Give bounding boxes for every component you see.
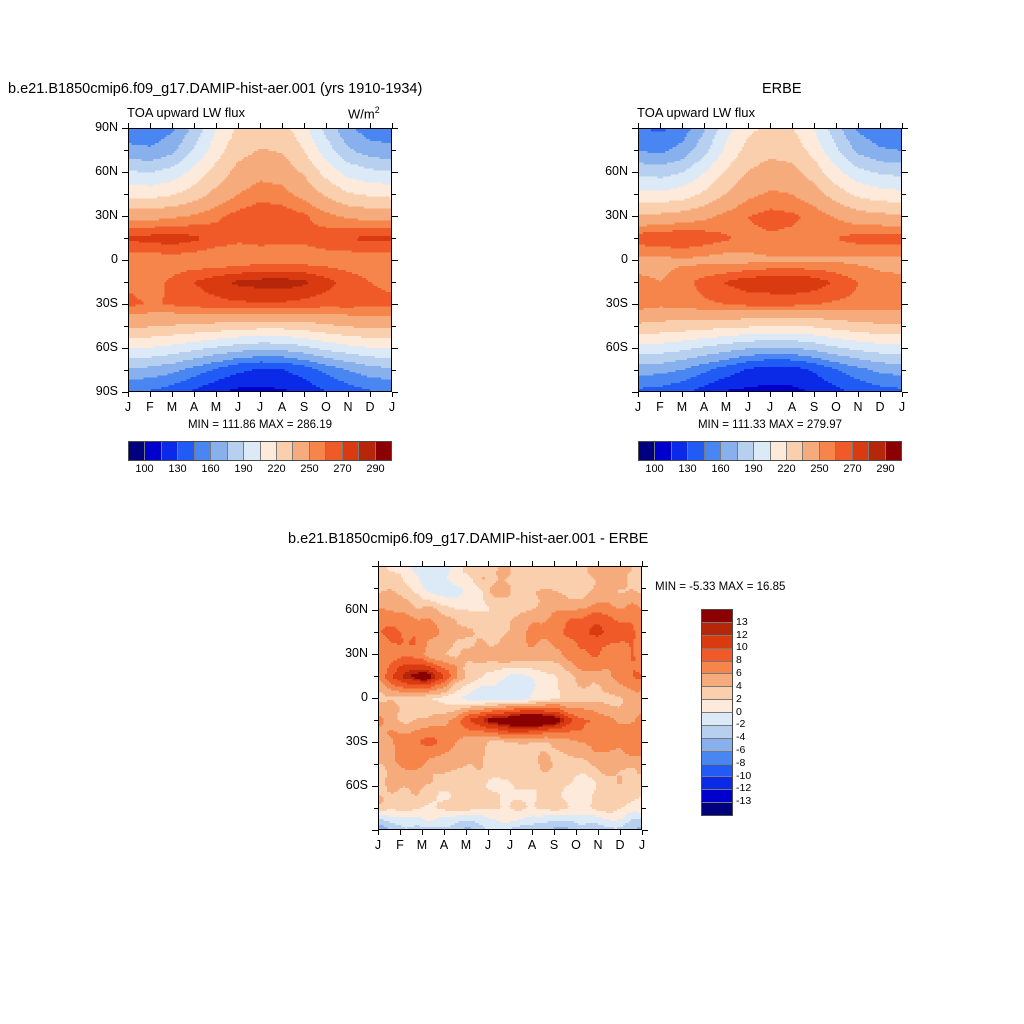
colorbar-tick-label: -4 (736, 731, 745, 743)
colorbar-swatch (702, 662, 732, 675)
colorbar-swatch (702, 765, 732, 778)
x-axis-label-month: J (894, 400, 910, 414)
x-axis-label-month: O (828, 400, 844, 414)
y-tick-major (392, 128, 398, 129)
y-tick-minor (374, 676, 378, 677)
y-tick-major (902, 216, 908, 217)
x-tick (488, 830, 489, 835)
x-axis-label-month: J (480, 838, 496, 852)
x-tick (532, 830, 533, 835)
x-tick (620, 561, 621, 566)
model-minmax-label: MIN = 111.86 MAX = 286.19 (128, 419, 392, 431)
y-tick-minor (392, 194, 396, 195)
y-axis-label-latitude: 90S (72, 384, 118, 398)
y-tick-minor (634, 194, 638, 195)
colorbar-swatch (702, 803, 732, 815)
x-tick (902, 392, 903, 397)
x-tick (238, 392, 239, 397)
x-tick (704, 123, 705, 128)
x-axis-label-month: J (634, 838, 650, 852)
model-colorbar (128, 441, 392, 461)
x-tick (194, 392, 195, 397)
x-axis-label-month: S (546, 838, 562, 852)
colorbar-swatch (886, 442, 901, 460)
y-tick-minor (642, 764, 646, 765)
x-tick (422, 561, 423, 566)
colorbar-tick-label: 12 (736, 629, 748, 641)
colorbar-swatch (129, 442, 145, 460)
colorbar-swatch (228, 442, 244, 460)
colorbar-swatch (145, 442, 161, 460)
y-tick-minor (124, 370, 128, 371)
y-tick-major (632, 304, 638, 305)
y-tick-major (122, 172, 128, 173)
x-axis-label-month: M (458, 838, 474, 852)
y-tick-minor (374, 764, 378, 765)
colorbar-swatch (702, 610, 732, 623)
x-tick (682, 392, 683, 397)
x-tick (792, 123, 793, 128)
x-tick (726, 123, 727, 128)
y-tick-major (372, 654, 378, 655)
x-tick (444, 561, 445, 566)
y-tick-minor (642, 588, 646, 589)
x-tick (554, 830, 555, 835)
x-tick (172, 392, 173, 397)
x-axis-label-month: A (524, 838, 540, 852)
x-axis-label-month: A (274, 400, 290, 414)
colorbar-swatch (705, 442, 721, 460)
y-tick-major (642, 566, 648, 567)
colorbar-swatch (702, 623, 732, 636)
colorbar-swatch (162, 442, 178, 460)
colorbar-swatch (244, 442, 260, 460)
x-axis-label-month: D (362, 400, 378, 414)
colorbar-tick-label: -6 (736, 744, 745, 756)
y-tick-major (392, 216, 398, 217)
diff-panel-title: b.e21.B1850cmip6.f09_g17.DAMIP-hist-aer.… (288, 531, 648, 547)
diff-colorbar-labels: 13121086420-2-4-6-8-10-12-13 (736, 609, 776, 814)
x-tick (814, 123, 815, 128)
y-axis-label-latitude: 30N (322, 646, 368, 660)
y-tick-major (392, 304, 398, 305)
x-tick (792, 392, 793, 397)
colorbar-tick-label: 100 (645, 463, 663, 475)
colorbar-swatch (293, 442, 309, 460)
y-tick-major (632, 392, 638, 393)
y-axis-label-latitude: 30N (72, 208, 118, 222)
y-tick-minor (124, 282, 128, 283)
colorbar-swatch (359, 442, 375, 460)
colorbar-swatch (688, 442, 704, 460)
x-tick (194, 123, 195, 128)
y-tick-major (372, 610, 378, 611)
x-axis-label-month: A (696, 400, 712, 414)
x-axis-label-month: O (568, 838, 584, 852)
x-tick (770, 392, 771, 397)
x-axis-label-month: M (414, 838, 430, 852)
y-tick-minor (124, 150, 128, 151)
colorbar-swatch (702, 687, 732, 700)
x-tick (128, 392, 129, 397)
y-tick-minor (642, 808, 646, 809)
x-tick (422, 830, 423, 835)
y-tick-minor (902, 238, 906, 239)
x-axis-label-month: O (318, 400, 334, 414)
x-tick (216, 123, 217, 128)
y-tick-major (642, 698, 648, 699)
y-tick-major (902, 260, 908, 261)
colorbar-swatch (702, 790, 732, 803)
y-tick-minor (392, 150, 396, 151)
y-tick-major (632, 260, 638, 261)
colorbar-swatch (803, 442, 819, 460)
x-tick (466, 830, 467, 835)
y-tick-minor (642, 676, 646, 677)
x-tick (726, 392, 727, 397)
x-axis-label-month: D (612, 838, 628, 852)
obs-minmax-label: MIN = 111.33 MAX = 279.97 (638, 419, 902, 431)
y-tick-major (122, 392, 128, 393)
x-axis-label-month: N (850, 400, 866, 414)
y-tick-major (632, 172, 638, 173)
colorbar-swatch (702, 752, 732, 765)
y-tick-minor (392, 370, 396, 371)
x-tick (880, 392, 881, 397)
model-colorbar-labels: 100130160190220250270290 (128, 463, 392, 479)
colorbar-tick-label: 6 (736, 667, 742, 679)
colorbar-swatch (655, 442, 671, 460)
colorbar-swatch (702, 700, 732, 713)
y-tick-minor (374, 720, 378, 721)
y-axis-label-latitude: 60S (322, 778, 368, 792)
y-tick-major (122, 260, 128, 261)
colorbar-tick-label: -12 (736, 782, 751, 794)
diff-minmax-label: MIN = -5.33 MAX = 16.85 (655, 581, 785, 593)
y-tick-major (632, 348, 638, 349)
x-tick (660, 123, 661, 128)
x-tick (282, 123, 283, 128)
obs-panel-title: ERBE (762, 81, 802, 97)
y-axis-label-latitude: 60N (72, 164, 118, 178)
y-tick-major (642, 610, 648, 611)
colorbar-swatch (261, 442, 277, 460)
obs-colorbar (638, 441, 902, 461)
y-tick-minor (374, 588, 378, 589)
y-tick-minor (902, 150, 906, 151)
y-tick-major (122, 348, 128, 349)
x-tick (554, 561, 555, 566)
y-tick-minor (902, 370, 906, 371)
y-axis-label-latitude: 30N (582, 208, 628, 222)
x-tick (488, 561, 489, 566)
y-axis-label-latitude: 60S (72, 340, 118, 354)
x-tick (150, 392, 151, 397)
x-tick (326, 123, 327, 128)
y-tick-minor (634, 326, 638, 327)
x-tick (326, 392, 327, 397)
x-tick (260, 123, 261, 128)
x-axis-label-month: A (436, 838, 452, 852)
y-axis-label-latitude: 30S (322, 734, 368, 748)
x-axis-label-month: M (208, 400, 224, 414)
colorbar-tick-label: 270 (333, 463, 351, 475)
x-tick (400, 561, 401, 566)
x-axis-label-month: J (630, 400, 646, 414)
x-tick (392, 392, 393, 397)
x-tick (150, 123, 151, 128)
x-tick (748, 392, 749, 397)
y-tick-major (392, 260, 398, 261)
y-tick-minor (902, 194, 906, 195)
y-axis-label-latitude: 60N (322, 602, 368, 616)
colorbar-swatch (310, 442, 326, 460)
x-axis-label-month: A (186, 400, 202, 414)
x-axis-label-month: J (230, 400, 246, 414)
x-axis-label-month: F (142, 400, 158, 414)
colorbar-swatch (702, 649, 732, 662)
colorbar-swatch (702, 777, 732, 790)
y-tick-major (642, 742, 648, 743)
y-tick-major (372, 566, 378, 567)
y-tick-major (902, 392, 908, 393)
y-tick-minor (392, 238, 396, 239)
x-tick (836, 392, 837, 397)
x-tick (858, 123, 859, 128)
x-axis-label-month: N (340, 400, 356, 414)
x-tick (814, 392, 815, 397)
colorbar-tick-label: 290 (366, 463, 384, 475)
x-tick (642, 830, 643, 835)
y-tick-minor (124, 194, 128, 195)
colorbar-tick-label: 130 (168, 463, 186, 475)
obs-colorbar-labels: 100130160190220250270290 (638, 463, 902, 479)
y-tick-minor (634, 150, 638, 151)
y-tick-major (372, 830, 378, 831)
x-axis-label-month: F (392, 838, 408, 852)
x-tick (770, 123, 771, 128)
colorbar-tick-label: 160 (711, 463, 729, 475)
colorbar-tick-label: 10 (736, 641, 748, 653)
y-axis-label-latitude: 0 (582, 252, 628, 266)
y-tick-major (122, 304, 128, 305)
y-axis-label-latitude: 90N (72, 120, 118, 134)
colorbar-tick-label: -2 (736, 718, 745, 730)
colorbar-swatch (721, 442, 737, 460)
colorbar-swatch (702, 726, 732, 739)
y-tick-major (902, 172, 908, 173)
colorbar-swatch (343, 442, 359, 460)
colorbar-swatch (702, 739, 732, 752)
x-tick (304, 123, 305, 128)
y-tick-minor (634, 282, 638, 283)
colorbar-swatch (853, 442, 869, 460)
y-tick-major (902, 128, 908, 129)
colorbar-tick-label: 130 (678, 463, 696, 475)
y-axis-label-latitude: 60S (582, 340, 628, 354)
y-axis-label-latitude: 60N (582, 164, 628, 178)
x-tick (598, 830, 599, 835)
colorbar-swatch (738, 442, 754, 460)
colorbar-tick-label: 270 (843, 463, 861, 475)
colorbar-tick-label: -13 (736, 795, 751, 807)
x-tick (378, 830, 379, 835)
colorbar-swatch (787, 442, 803, 460)
x-tick (444, 830, 445, 835)
colorbar-tick-label: 100 (135, 463, 153, 475)
colorbar-tick-label: 13 (736, 616, 748, 628)
x-tick (836, 123, 837, 128)
colorbar-swatch (639, 442, 655, 460)
y-tick-major (392, 348, 398, 349)
colorbar-tick-label: 2 (736, 693, 742, 705)
colorbar-swatch (178, 442, 194, 460)
obs-field-label: TOA upward LW flux (637, 105, 755, 120)
x-tick (510, 561, 511, 566)
x-tick (660, 392, 661, 397)
x-tick (532, 561, 533, 566)
colorbar-tick-label: 160 (201, 463, 219, 475)
x-tick (510, 830, 511, 835)
colorbar-tick-label: 190 (234, 463, 252, 475)
colorbar-swatch (277, 442, 293, 460)
colorbar-swatch (869, 442, 885, 460)
x-tick (370, 392, 371, 397)
x-tick (858, 392, 859, 397)
colorbar-tick-label: 290 (876, 463, 894, 475)
x-axis-label-month: J (120, 400, 136, 414)
model-units-label: W/m2 (348, 105, 380, 121)
colorbar-swatch (326, 442, 342, 460)
x-axis-label-month: J (762, 400, 778, 414)
y-tick-minor (124, 238, 128, 239)
y-tick-minor (642, 632, 646, 633)
y-tick-major (122, 128, 128, 129)
x-axis-label-month: N (590, 838, 606, 852)
x-axis-label-month: M (718, 400, 734, 414)
x-tick (172, 123, 173, 128)
x-tick (704, 392, 705, 397)
y-tick-major (632, 128, 638, 129)
y-tick-minor (392, 282, 396, 283)
y-tick-major (122, 216, 128, 217)
x-tick (260, 392, 261, 397)
y-tick-minor (642, 720, 646, 721)
y-tick-major (902, 304, 908, 305)
y-tick-major (642, 830, 648, 831)
colorbar-swatch (836, 442, 852, 460)
y-tick-minor (634, 370, 638, 371)
model-contour-plot (128, 128, 392, 392)
x-axis-label-month: S (806, 400, 822, 414)
colorbar-swatch (820, 442, 836, 460)
y-tick-minor (124, 326, 128, 327)
model-field-label: TOA upward LW flux (127, 105, 245, 120)
colorbar-tick-label: 8 (736, 654, 742, 666)
colorbar-swatch (702, 636, 732, 649)
y-tick-minor (902, 326, 906, 327)
x-axis-label-month: A (784, 400, 800, 414)
y-tick-minor (634, 238, 638, 239)
obs-contour-plot (638, 128, 902, 392)
x-tick (598, 561, 599, 566)
x-axis-label-month: J (252, 400, 268, 414)
colorbar-swatch (195, 442, 211, 460)
x-tick (748, 123, 749, 128)
y-tick-major (642, 654, 648, 655)
y-tick-minor (374, 808, 378, 809)
colorbar-swatch (702, 674, 732, 687)
y-tick-minor (902, 282, 906, 283)
x-tick (282, 392, 283, 397)
x-tick (576, 561, 577, 566)
diff-contour-plot (378, 566, 642, 830)
x-tick (466, 561, 467, 566)
colorbar-tick-label: 250 (810, 463, 828, 475)
x-axis-label-month: J (740, 400, 756, 414)
y-tick-major (372, 786, 378, 787)
colorbar-swatch (211, 442, 227, 460)
x-tick (400, 830, 401, 835)
model-panel-title: b.e21.B1850cmip6.f09_g17.DAMIP-hist-aer.… (8, 81, 422, 97)
colorbar-tick-label: 0 (736, 706, 742, 718)
colorbar-swatch (672, 442, 688, 460)
x-tick (216, 392, 217, 397)
x-tick (638, 392, 639, 397)
x-axis-label-month: J (384, 400, 400, 414)
x-tick (238, 123, 239, 128)
y-tick-major (372, 698, 378, 699)
diff-colorbar (701, 609, 733, 816)
y-tick-major (372, 742, 378, 743)
x-tick (304, 392, 305, 397)
x-axis-label-month: J (370, 838, 386, 852)
x-axis-label-month: M (164, 400, 180, 414)
y-tick-minor (374, 632, 378, 633)
y-axis-label-latitude: 30S (72, 296, 118, 310)
x-tick (620, 830, 621, 835)
y-tick-major (632, 216, 638, 217)
x-axis-label-month: S (296, 400, 312, 414)
x-axis-label-month: F (652, 400, 668, 414)
y-tick-minor (392, 326, 396, 327)
colorbar-swatch (702, 713, 732, 726)
x-tick (880, 123, 881, 128)
x-tick (576, 830, 577, 835)
colorbar-tick-label: 250 (300, 463, 318, 475)
y-axis-label-latitude: 0 (322, 690, 368, 704)
colorbar-tick-label: 220 (777, 463, 795, 475)
colorbar-swatch (754, 442, 770, 460)
colorbar-swatch (771, 442, 787, 460)
colorbar-tick-label: 190 (744, 463, 762, 475)
x-axis-label-month: J (502, 838, 518, 852)
x-tick (682, 123, 683, 128)
y-axis-label-latitude: 0 (72, 252, 118, 266)
x-tick (348, 392, 349, 397)
colorbar-tick-label: -8 (736, 757, 745, 769)
x-axis-label-month: D (872, 400, 888, 414)
y-tick-major (642, 786, 648, 787)
colorbar-tick-label: 4 (736, 680, 742, 692)
colorbar-tick-label: -10 (736, 770, 751, 782)
y-tick-major (392, 392, 398, 393)
colorbar-tick-label: 220 (267, 463, 285, 475)
x-tick (370, 123, 371, 128)
y-axis-label-latitude: 30S (582, 296, 628, 310)
colorbar-swatch (376, 442, 391, 460)
x-axis-label-month: M (674, 400, 690, 414)
